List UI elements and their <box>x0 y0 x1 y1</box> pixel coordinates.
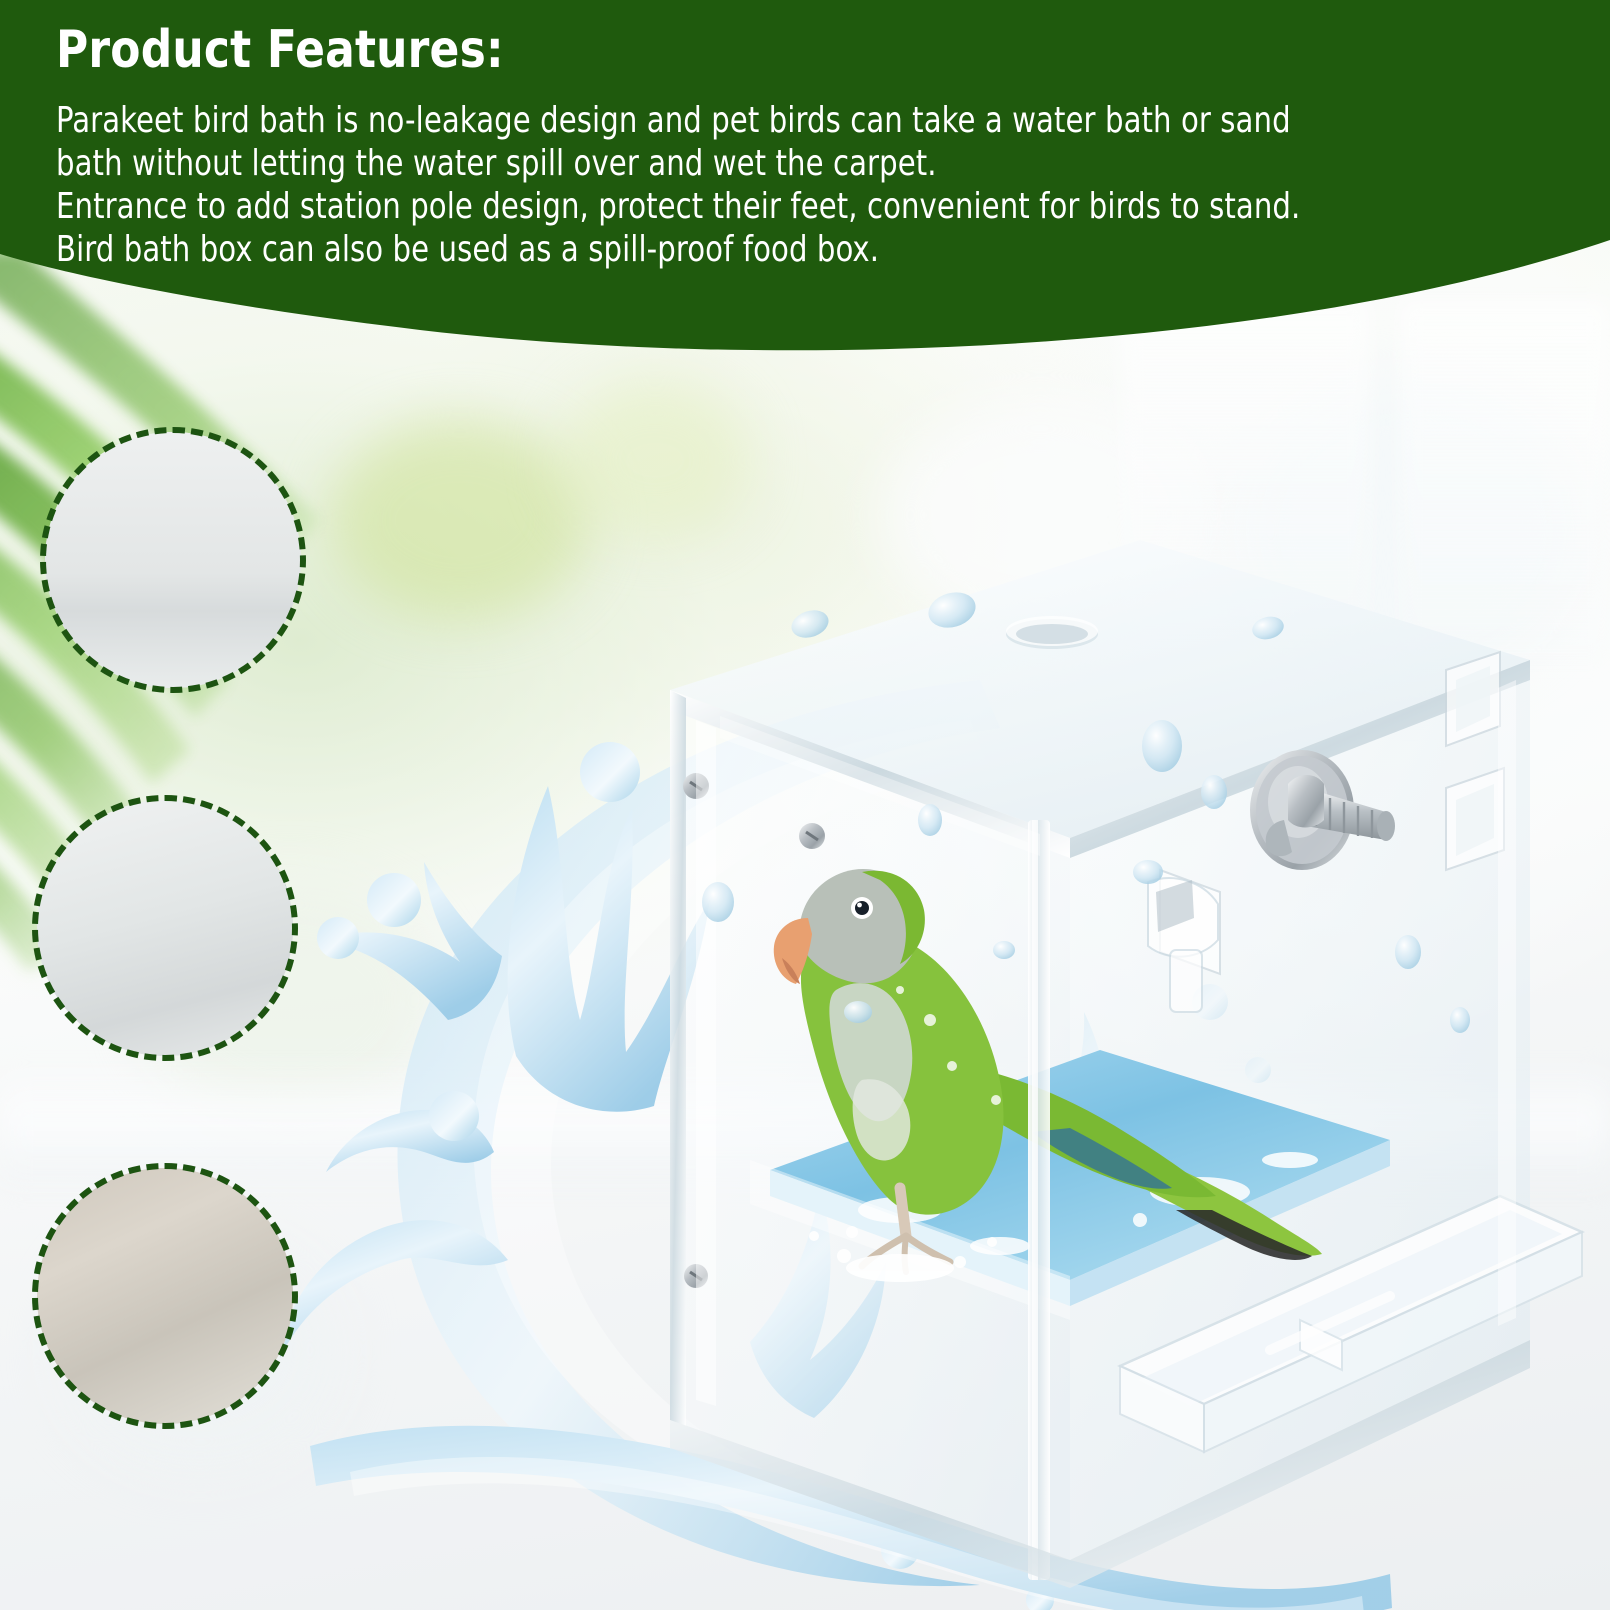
thumbnail-dashed-border <box>32 795 298 1061</box>
macaw-on-perch-thumbnail <box>37 800 293 1056</box>
acrylic-bird-bath-box <box>600 520 1610 1610</box>
thumbnail-dashed-border <box>40 427 306 693</box>
amazon-parrot-feeding-thumbnail <box>37 1168 293 1424</box>
thumbnail-dashed-border <box>32 1163 298 1429</box>
station-pole-part <box>1028 820 1050 1580</box>
product-feature-graphic: Product Features: Parakeet bird bath is … <box>0 0 1610 1610</box>
wet-lovebird-thumbnail <box>45 432 301 688</box>
